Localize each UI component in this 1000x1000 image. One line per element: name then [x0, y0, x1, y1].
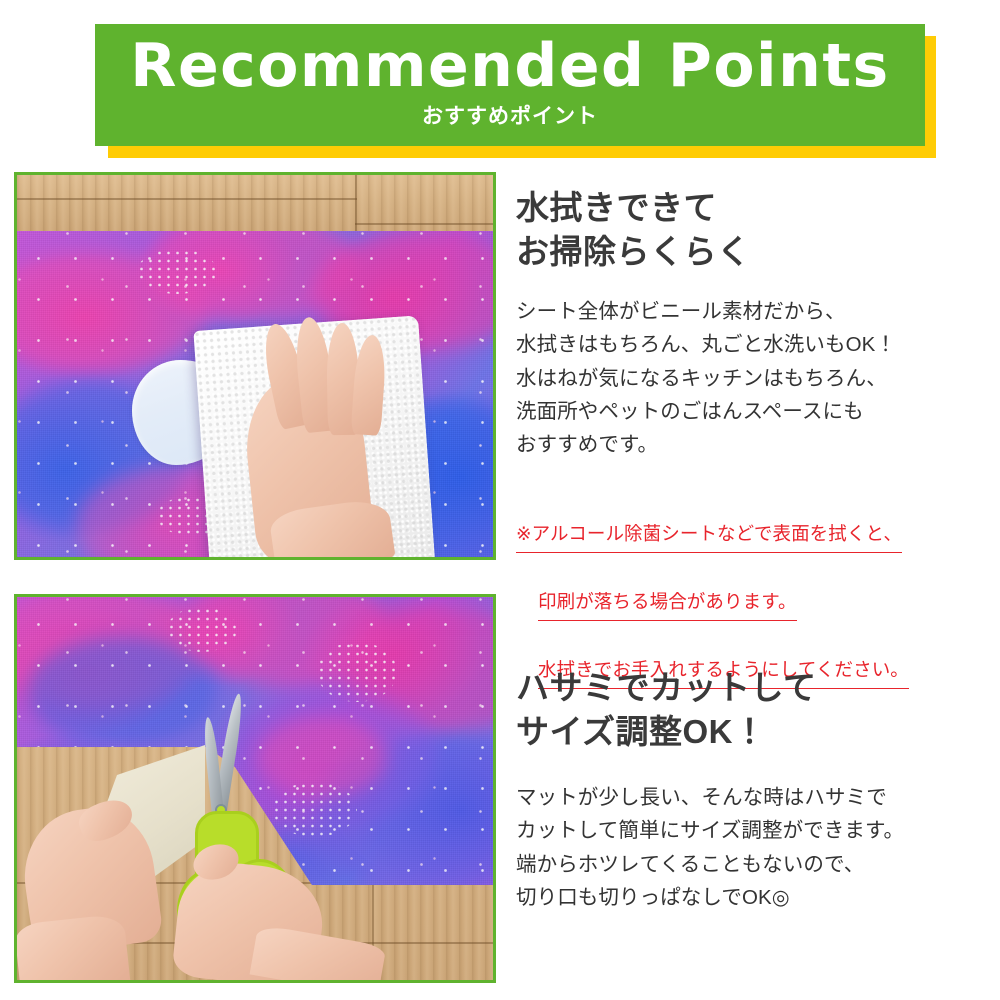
photo-scissor-cut: [14, 594, 496, 983]
page-title: Recommended Points: [95, 36, 925, 96]
hand-wrist: [17, 913, 130, 980]
wood-floor: [17, 175, 493, 235]
wood-seam-vertical: [355, 175, 357, 235]
wood-seam: [355, 223, 493, 225]
page-header: Recommended Points おすすめポイント: [0, 0, 1000, 168]
section-body: シート全体がビニール素材だから、 水拭きはもちろん、丸ごと水洗いもOK！ 水はね…: [516, 295, 996, 461]
photo-water-wipe: [14, 172, 496, 560]
section-scissor-cut: ハサミでカットして サイズ調整OK！ マットが少し長い、そんな時はハサミで カッ…: [0, 588, 1000, 988]
text-column-scissor-cut: ハサミでカットして サイズ調整OK！ マットが少し長い、そんな時はハサミで カッ…: [516, 666, 996, 914]
note-line: ※アルコール除菌シートなどで表面を拭くと、: [516, 518, 902, 553]
photo-scissor-cut-content: [17, 597, 493, 980]
section-heading: 水拭きできて お掃除らくらく: [516, 186, 996, 273]
page-subtitle: おすすめポイント: [95, 106, 925, 127]
wood-seam: [17, 198, 357, 200]
header-green-band: Recommended Points おすすめポイント: [95, 24, 925, 146]
section-body: マットが少し長い、そんな時はハサミで カットして簡単にサイズ調整ができます。 端…: [516, 781, 996, 914]
photo-water-wipe-content: [17, 175, 493, 557]
section-water-wipe: 水拭きできて お掃除らくらく シート全体がビニール素材だから、 水拭きはもちろん…: [0, 168, 1000, 578]
section-heading: ハサミでカットして サイズ調整OK！: [516, 666, 996, 753]
